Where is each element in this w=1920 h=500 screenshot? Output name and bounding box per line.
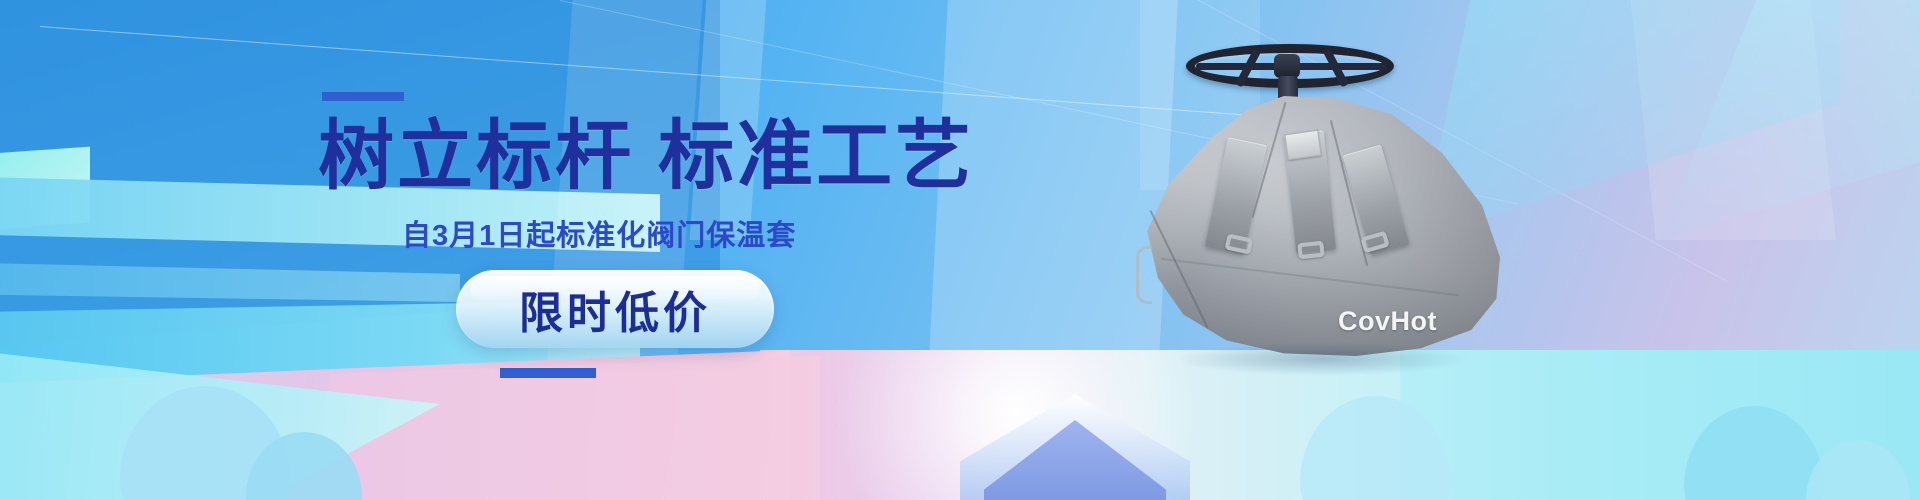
insulation-jacket-body: CovHot [1140,96,1500,356]
product-drop-shadow [1174,342,1470,376]
jacket-draw-cord [1136,246,1152,304]
banner-headline: 树立标杆 标准工艺 [318,117,974,198]
banner-subtitle: 自3月1日起标准化阀门保温套 [402,212,974,254]
product-image-valve-insulation-jacket: CovHot [1140,22,1540,442]
accent-tick-mark [322,92,404,101]
cta-wrapper: 限时低价 [456,270,974,378]
cta-button-label: 限时低价 [519,277,711,341]
jacket-spec-label-tag [1284,130,1321,160]
handwheel-hub [1274,54,1300,78]
jacket-buckle [1297,241,1325,260]
limited-time-price-button[interactable]: 限时低价 [456,270,774,348]
promo-banner: 树立标杆 标准工艺 自3月1日起标准化阀门保温套 限时低价 [0,0,1920,500]
product-brand-text: CovHot [1338,306,1437,337]
accent-underbar [500,368,596,378]
banner-copy: 树立标杆 标准工艺 自3月1日起标准化阀门保温套 限时低价 [318,92,974,378]
